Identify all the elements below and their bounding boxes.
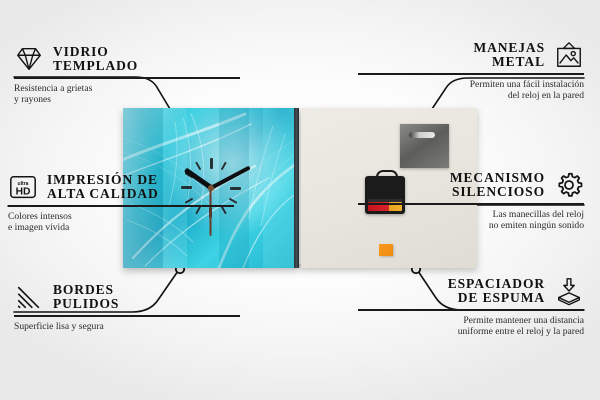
feature-title-line: PULIDOS bbox=[53, 297, 119, 312]
feature-title-line: MECANISMO bbox=[450, 171, 545, 186]
feature-desc-line: Resistencia a grietas bbox=[14, 83, 240, 94]
feature-title-line: BORDES bbox=[53, 283, 119, 298]
hanger-slot bbox=[409, 132, 435, 138]
diamond-icon bbox=[14, 44, 44, 74]
feature-desc-line: Permite mantener una distancia bbox=[358, 315, 584, 326]
feature-title-line: VIDRIO bbox=[53, 45, 138, 60]
feature-impresion-alta-calidad: ultra HD IMPRESIÓN DE ALTA CALIDAD Color… bbox=[8, 172, 234, 233]
feature-title-line: DE ESPUMA bbox=[448, 291, 545, 306]
feature-desc-line: y rayones bbox=[14, 94, 240, 105]
feature-espaciador-espuma: ESPACIADOR DE ESPUMA Permite mantener un… bbox=[358, 276, 584, 337]
feature-rule bbox=[358, 73, 584, 75]
feature-title-line: ESPACIADOR bbox=[448, 277, 545, 292]
feature-bordes-pulidos: BORDES PULIDOS Superficie lisa y segura bbox=[14, 282, 240, 332]
metal-hanger-plate bbox=[400, 124, 449, 168]
feature-title-line: MANEJAS bbox=[473, 41, 545, 56]
feature-rule bbox=[14, 315, 240, 317]
foam-spacer bbox=[379, 244, 393, 256]
feature-rule bbox=[358, 203, 584, 205]
feature-rule bbox=[358, 309, 584, 311]
feature-mecanismo-silencioso: MECANISMO SILENCIOSO Las manecillas del … bbox=[358, 170, 584, 231]
ultra-hd-icon: ultra HD bbox=[8, 172, 38, 202]
feature-desc-line: Las manecillas del reloj bbox=[358, 209, 584, 220]
feature-desc-line: Superficie lisa y segura bbox=[14, 321, 240, 332]
feature-rule bbox=[14, 77, 240, 79]
feature-title-line: SILENCIOSO bbox=[450, 185, 545, 200]
feature-desc-line: no emiten ningún sonido bbox=[358, 220, 584, 231]
feature-desc-line: uniforme entre el reloj y la pared bbox=[358, 326, 584, 337]
glass-edge bbox=[294, 108, 299, 268]
hanging-frame-icon bbox=[554, 40, 584, 70]
feature-title-line: ALTA CALIDAD bbox=[47, 187, 159, 202]
feature-desc-line: del reloj en la pared bbox=[358, 90, 584, 101]
gear-icon bbox=[554, 170, 584, 200]
polished-edges-icon bbox=[14, 282, 44, 312]
feature-manejas-metal: MANEJAS METAL Permiten una fácil instala… bbox=[358, 40, 584, 101]
feature-desc-line: Permiten una fácil instalación bbox=[358, 79, 584, 90]
feature-title-line: METAL bbox=[473, 55, 545, 70]
svg-text:HD: HD bbox=[16, 187, 31, 198]
foam-spacer-icon bbox=[554, 276, 584, 306]
feature-vidrio-templado: VIDRIO TEMPLADO Resistencia a grietas y … bbox=[14, 44, 240, 105]
infographic-canvas: VIDRIO TEMPLADO Resistencia a grietas y … bbox=[0, 0, 600, 400]
feature-desc-line: Colores intensos bbox=[8, 211, 234, 222]
feature-title-line: TEMPLADO bbox=[53, 59, 138, 74]
feature-title-line: IMPRESIÓN DE bbox=[47, 173, 159, 188]
feature-rule bbox=[8, 205, 234, 207]
feature-desc-line: e imagen vívida bbox=[8, 222, 234, 233]
